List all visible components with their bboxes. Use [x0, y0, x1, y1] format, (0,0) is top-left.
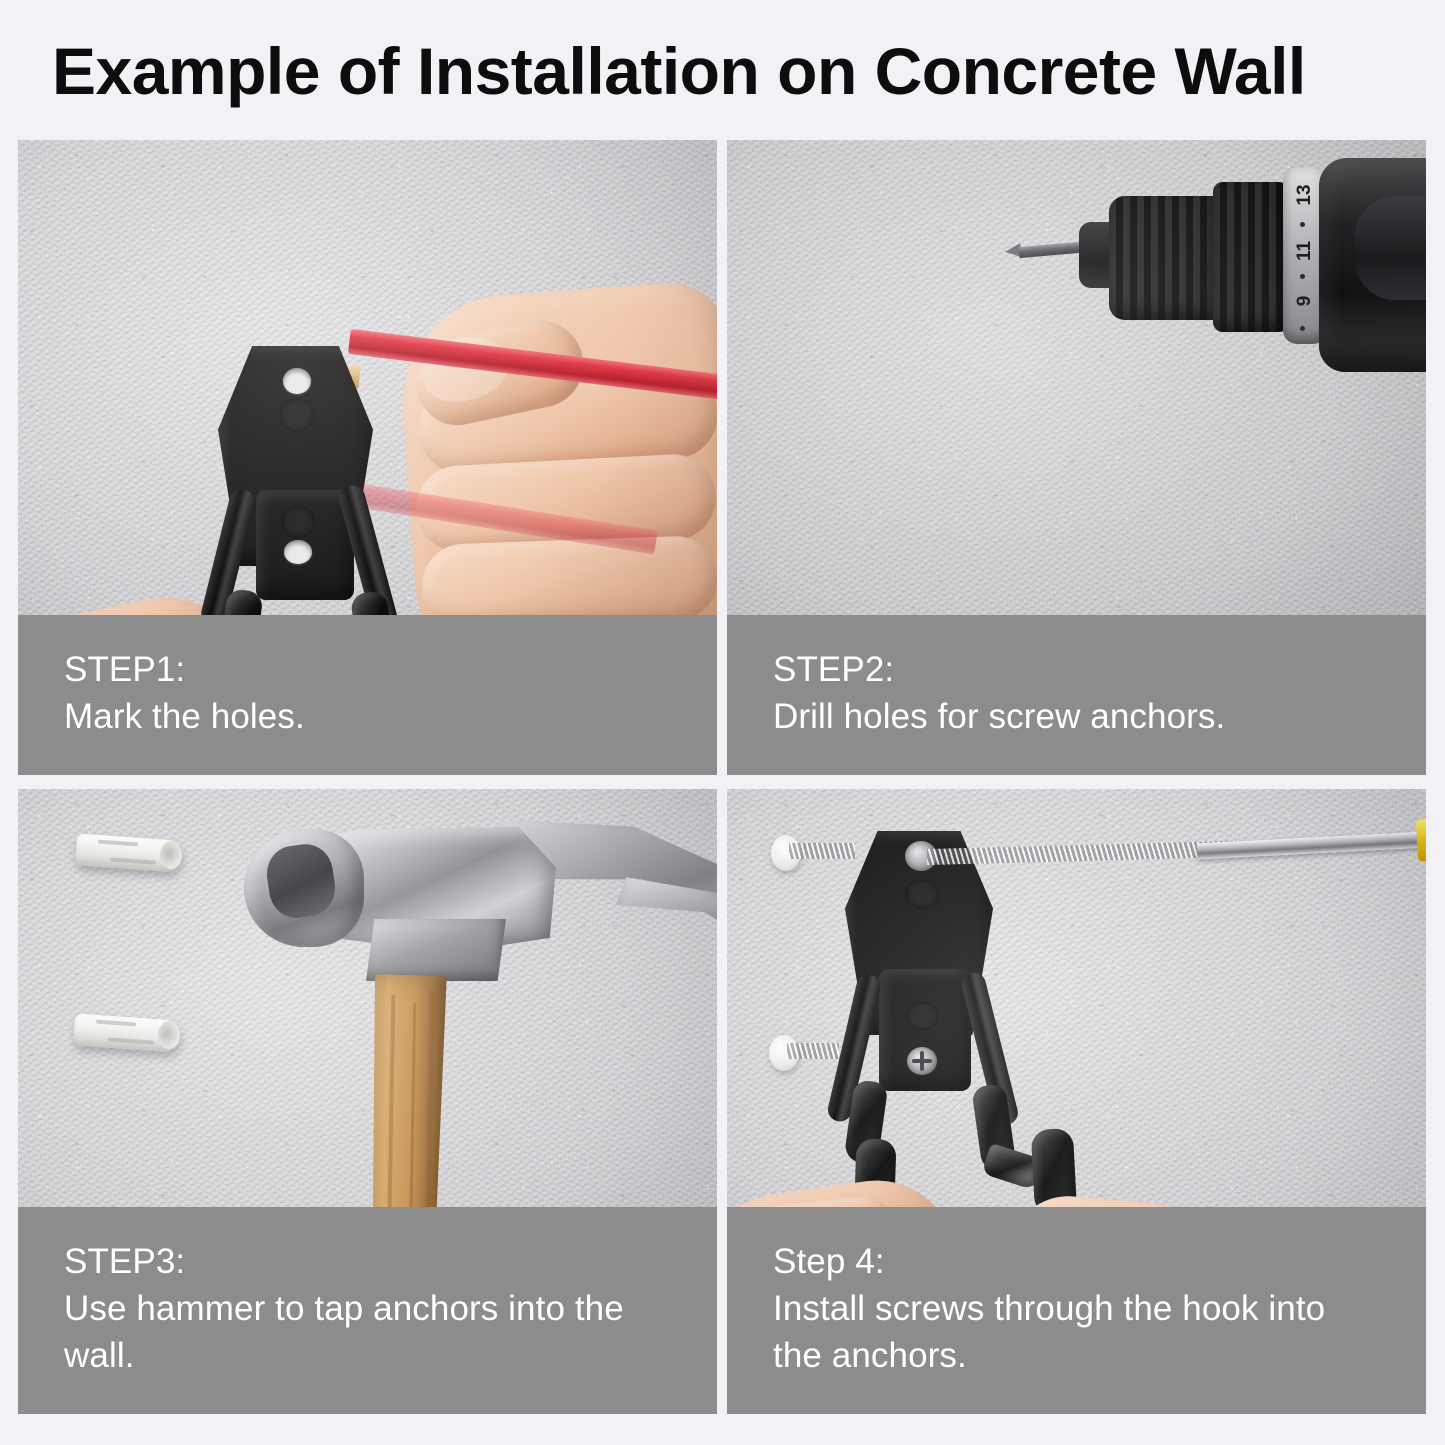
step-4-label: Step 4:: [773, 1239, 1380, 1286]
hook4-hole-third: [905, 1001, 939, 1031]
anchor-upper-thread: [789, 843, 855, 859]
screwdriver-collar: [1416, 818, 1426, 861]
collar-number-11: 11: [1294, 237, 1316, 265]
anchor-upper-mouth: [160, 841, 182, 869]
step-2-label: STEP2:: [773, 647, 1380, 694]
page-title: Example of Installation on Concrete Wall: [52, 28, 1402, 114]
step-3-label: STEP3:: [64, 1239, 671, 1286]
collar-number-13: 13: [1294, 181, 1316, 209]
step-1-caption: STEP1: Mark the holes.: [18, 615, 717, 775]
hook-hole-bottom: [284, 540, 312, 564]
driven-screw-shaft: [927, 841, 1237, 865]
step-2-text: Drill holes for screw anchors.: [773, 694, 1380, 741]
step-1-text: Mark the holes.: [64, 694, 671, 741]
collar-number-9: 9: [1294, 287, 1316, 315]
anchor-lower-thread: [787, 1043, 839, 1059]
drill-chuck: [1109, 196, 1221, 320]
step-1-label: STEP1:: [64, 647, 671, 694]
collar-dot-1: [1300, 222, 1305, 227]
hook-hole-third: [281, 506, 315, 538]
hook4-hole-second: [905, 879, 939, 909]
screwdriver-shaft: [1197, 830, 1426, 859]
step-2-caption: STEP2: Drill holes for screw anchors.: [727, 615, 1426, 775]
hammer-neck: [366, 919, 506, 981]
step-4-text: Install screws through the hook into the…: [773, 1286, 1380, 1380]
anchor-lower-mouth: [158, 1021, 180, 1049]
step-3-text: Use hammer to tap anchors into the wall.: [64, 1286, 671, 1380]
step-panel-3: STEP3: Use hammer to tap anchors into th…: [18, 789, 717, 1414]
step-3-caption: STEP3: Use hammer to tap anchors into th…: [18, 1207, 717, 1414]
collar-dot-3: [1300, 326, 1305, 331]
hook-hole-second: [279, 398, 315, 432]
step-panel-4: Step 4: Install screws through the hook …: [727, 789, 1426, 1414]
drill-body-inset-panel: [1355, 196, 1426, 300]
drill-chuck-rear: [1213, 182, 1289, 332]
hook-hole-top: [283, 368, 311, 394]
step-4-caption: Step 4: Install screws through the hook …: [727, 1207, 1426, 1414]
step-panel-1: STEP1: Mark the holes.: [18, 140, 717, 775]
collar-dot-2: [1300, 274, 1305, 279]
installation-guide-page: Example of Installation on Concrete Wall: [0, 0, 1445, 1445]
step-panel-2: 13 11 9: [727, 140, 1426, 775]
hook4-screw-phillips-h: [912, 1059, 932, 1063]
steps-grid: STEP1: Mark the holes. 13 11 9: [18, 140, 1426, 1414]
